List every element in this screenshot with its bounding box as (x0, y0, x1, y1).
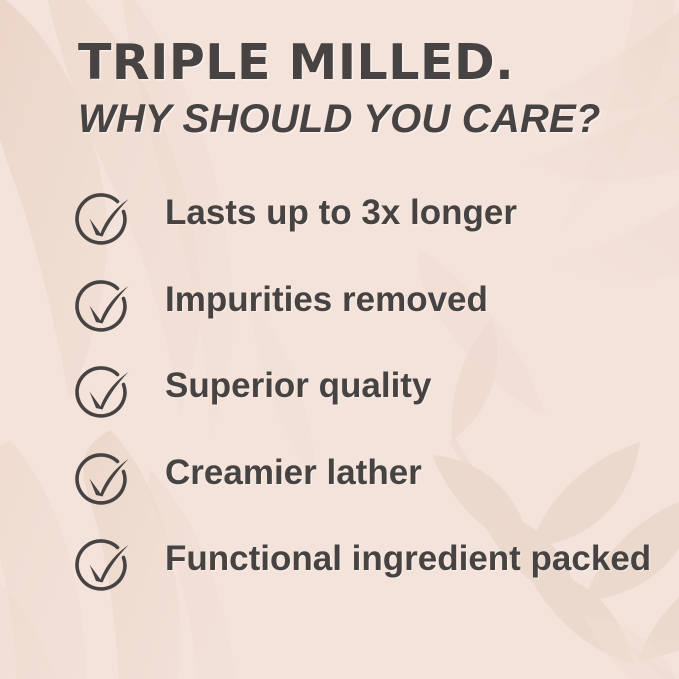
list-item-label: Lasts up to 3x longer (165, 186, 652, 232)
list-item: Lasts up to 3x longer (72, 186, 652, 273)
triple-milled-poster: TRIPLE MILLED. WHY SHOULD YOU CARE? Last… (0, 0, 679, 679)
headline-block: TRIPLE MILLED. WHY SHOULD YOU CARE? (78, 38, 638, 140)
check-circle-icon (72, 275, 136, 339)
list-item-label: Functional ingredient packed (165, 532, 652, 578)
check-circle-icon (72, 448, 136, 512)
list-item-label: Superior quality (165, 359, 652, 405)
list-item-label: Impurities removed (165, 273, 652, 319)
list-item: Impurities removed (72, 273, 652, 360)
page-subtitle: WHY SHOULD YOU CARE? (78, 98, 638, 140)
list-item: Functional ingredient packed (72, 532, 652, 619)
list-item-label: Creamier lather (165, 446, 652, 492)
page-title: TRIPLE MILLED. (78, 38, 638, 88)
check-circle-icon (72, 188, 136, 252)
check-circle-icon (72, 361, 136, 425)
list-item: Superior quality (72, 359, 652, 446)
check-circle-icon (72, 534, 136, 598)
list-item: Creamier lather (72, 446, 652, 533)
benefit-list: Lasts up to 3x longer Impurities removed… (72, 186, 652, 619)
